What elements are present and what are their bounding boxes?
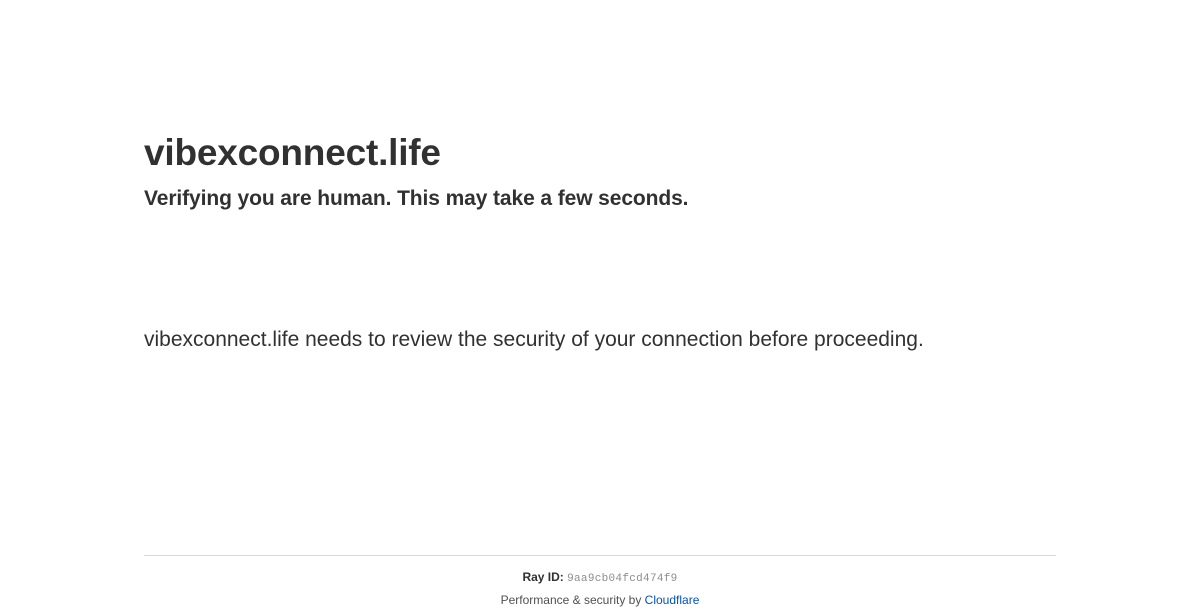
ray-id-value: 9aa9cb04fcd474f9	[567, 573, 677, 585]
footer: Ray ID: 9aa9cb04fcd474f9 Performance & s…	[144, 555, 1056, 609]
attribution-prefix: Performance & security by	[501, 593, 642, 607]
ray-id-line: Ray ID: 9aa9cb04fcd474f9	[144, 568, 1056, 588]
cloudflare-turnstile-widget[interactable]	[144, 218, 444, 283]
header-block: vibexconnect.life Verifying you are huma…	[144, 0, 1056, 212]
verification-subtitle: Verifying you are human. This may take a…	[144, 185, 1056, 212]
challenge-page: vibexconnect.life Verifying you are huma…	[0, 0, 1200, 600]
page-content: vibexconnect.life Verifying you are huma…	[144, 0, 1056, 358]
page-title: vibexconnect.life	[144, 131, 1056, 175]
ray-id-label: Ray ID:	[522, 570, 563, 584]
challenge-area	[144, 218, 1056, 322]
attribution-line: Performance & security by Cloudflare	[144, 591, 1056, 609]
security-review-message: vibexconnect.life needs to review the se…	[144, 322, 944, 358]
cloudflare-link[interactable]: Cloudflare	[645, 593, 700, 607]
